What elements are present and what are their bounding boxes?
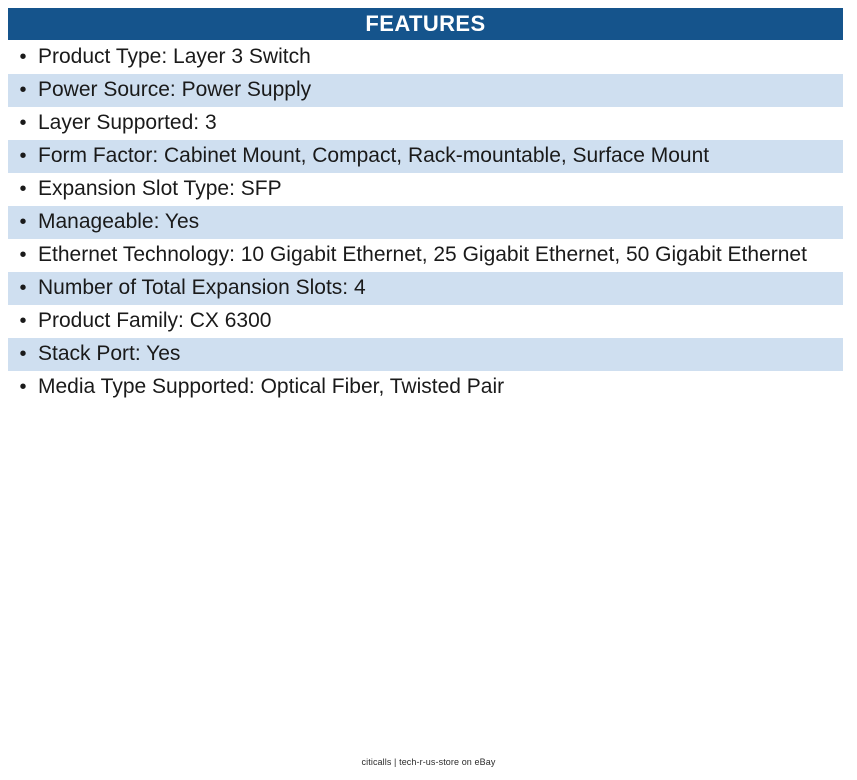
bullet-icon: • [8,278,38,298]
features-header-bar: FEATURES [8,8,843,40]
bullet-icon: • [8,146,38,166]
footer-attribution: citicalls | tech-r-us-store on eBay [362,757,496,767]
features-sheet: FEATURES •Product Type: Layer 3 Switch•P… [0,0,857,780]
feature-list-item: •Ethernet Technology: 10 Gigabit Etherne… [8,239,843,272]
feature-list-item: •Power Source: Power Supply [8,74,843,107]
feature-list-item: •Form Factor: Cabinet Mount, Compact, Ra… [8,140,843,173]
feature-list-item: •Media Type Supported: Optical Fiber, Tw… [8,371,843,404]
bullet-icon: • [8,245,38,265]
features-list: •Product Type: Layer 3 Switch•Power Sour… [8,41,843,404]
bullet-icon: • [8,179,38,199]
bullet-icon: • [8,113,38,133]
feature-list-item: •Number of Total Expansion Slots: 4 [8,272,843,305]
footer: citicalls | tech-r-us-store on eBay [0,752,857,780]
feature-item-label: Number of Total Expansion Slots: 4 [38,273,843,303]
feature-item-label: Manageable: Yes [38,207,843,237]
feature-list-item: •Expansion Slot Type: SFP [8,173,843,206]
feature-list-item: •Stack Port: Yes [8,338,843,371]
bullet-icon: • [8,344,38,364]
feature-item-label: Form Factor: Cabinet Mount, Compact, Rac… [38,141,843,171]
feature-list-item: •Product Type: Layer 3 Switch [8,41,843,74]
feature-list-item: •Layer Supported: 3 [8,107,843,140]
bullet-icon: • [8,212,38,232]
feature-item-label: Stack Port: Yes [38,339,843,369]
feature-item-label: Product Family: CX 6300 [38,306,843,336]
bullet-icon: • [8,80,38,100]
feature-item-label: Power Source: Power Supply [38,75,843,105]
feature-item-label: Expansion Slot Type: SFP [38,174,843,204]
bullet-icon: • [8,377,38,397]
feature-item-label: Layer Supported: 3 [38,108,843,138]
page-title: FEATURES [365,13,485,35]
content-spacer [0,404,857,752]
feature-item-label: Product Type: Layer 3 Switch [38,42,843,72]
bullet-icon: • [8,47,38,67]
feature-item-label: Media Type Supported: Optical Fiber, Twi… [38,372,843,402]
feature-item-label: Ethernet Technology: 10 Gigabit Ethernet… [38,240,843,270]
feature-list-item: •Product Family: CX 6300 [8,305,843,338]
bullet-icon: • [8,311,38,331]
feature-list-item: •Manageable: Yes [8,206,843,239]
